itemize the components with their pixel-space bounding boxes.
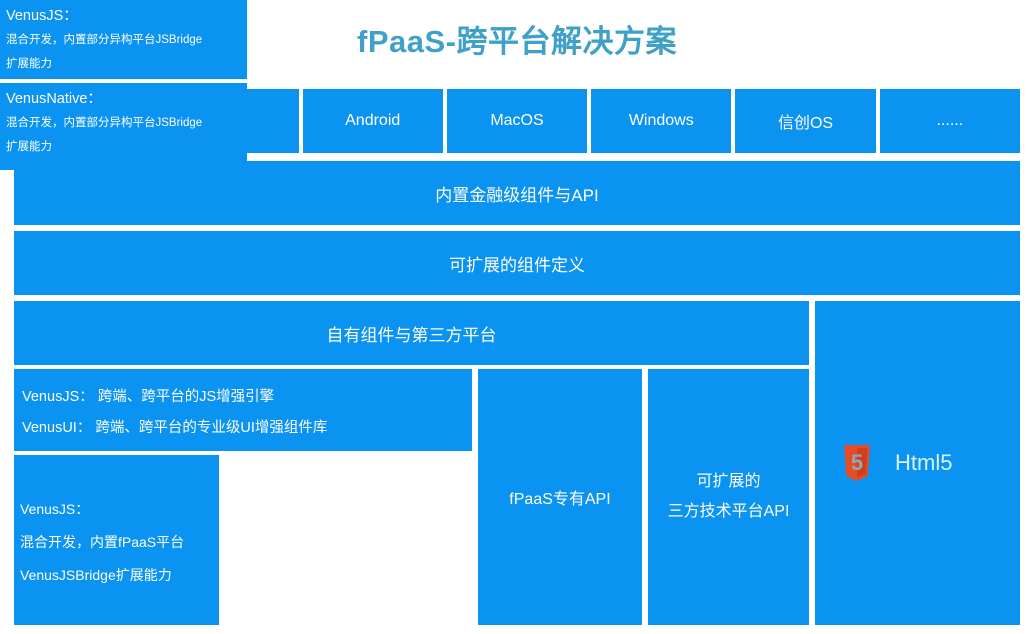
html5-panel[interactable]: 5 Html5 [815, 301, 1020, 625]
fpaas-proprietary-api-column[interactable]: fPaaS专有API [478, 369, 642, 625]
venusnative-sub-block[interactable]: VenusNative： 混合开发，内置部分异构平台JSBridge 扩展能力 [0, 83, 247, 170]
html5-logo-icon: 5 [841, 445, 873, 481]
os-cell-android[interactable]: Android [303, 89, 443, 153]
third-party-api-line-2: 三方技术平台API [668, 497, 790, 527]
third-party-api-line-1: 可扩展的 [668, 467, 790, 497]
venusjs-hybrid-title: VenusJS： [20, 493, 213, 526]
venusjs-hybrid-block[interactable]: VenusJS： 混合开发，内置fPaaS平台 VenusJSBridge扩展能… [14, 455, 219, 625]
venusnative-sub-desc-1: 混合开发，内置部分异构平台JSBridge [6, 111, 241, 135]
venusjs-hybrid-line-3: VenusJSBridge扩展能力 [20, 559, 213, 592]
svg-text:5: 5 [851, 450, 863, 475]
venusjs-sub-title: VenusJS： [6, 4, 241, 28]
venusjs-sub-block[interactable]: VenusJS： 混合开发，内置部分异构平台JSBridge 扩展能力 [0, 0, 247, 79]
os-cell-xinchuang-os[interactable]: 信创OS [735, 89, 875, 153]
band-own-and-third-party-platform[interactable]: 自有组件与第三方平台 [14, 301, 809, 365]
venusjs-sub-desc-2: 扩展能力 [6, 52, 241, 76]
venus-summary-line-venusjs: VenusJS： 跨端、跨平台的JS增强引擎 [22, 382, 464, 413]
venusnative-sub-desc-2: 扩展能力 [6, 135, 241, 159]
venus-summary-block[interactable]: VenusJS： 跨端、跨平台的JS增强引擎 VenusUI： 跨端、跨平台的专… [14, 369, 472, 451]
band-builtin-financial-components-api[interactable]: 内置金融级组件与API [14, 161, 1020, 225]
venusnative-sub-title: VenusNative： [6, 87, 241, 111]
os-cell-macos[interactable]: MacOS [447, 89, 587, 153]
os-cell-windows[interactable]: Windows [591, 89, 731, 153]
venus-summary-line-venusui: VenusUI： 跨端、跨平台的专业级UI增强组件库 [22, 413, 464, 444]
venus-sub-block-group: VenusJS： 混合开发，内置部分异构平台JSBridge 扩展能力 Venu… [0, 0, 247, 170]
html5-label: Html5 [895, 450, 952, 476]
venusjs-sub-desc-1: 混合开发，内置部分异构平台JSBridge [6, 28, 241, 52]
architecture-diagram: fPaaS-跨平台解决方案 Harmony ios Android MacOS … [0, 0, 1034, 634]
os-cell-more[interactable]: ...... [880, 89, 1020, 153]
venusjs-hybrid-line-2: 混合开发，内置fPaaS平台 [20, 526, 213, 559]
band-extensible-component-definition[interactable]: 可扩展的组件定义 [14, 231, 1020, 295]
third-party-platform-api-column[interactable]: 可扩展的 三方技术平台API [648, 369, 809, 625]
